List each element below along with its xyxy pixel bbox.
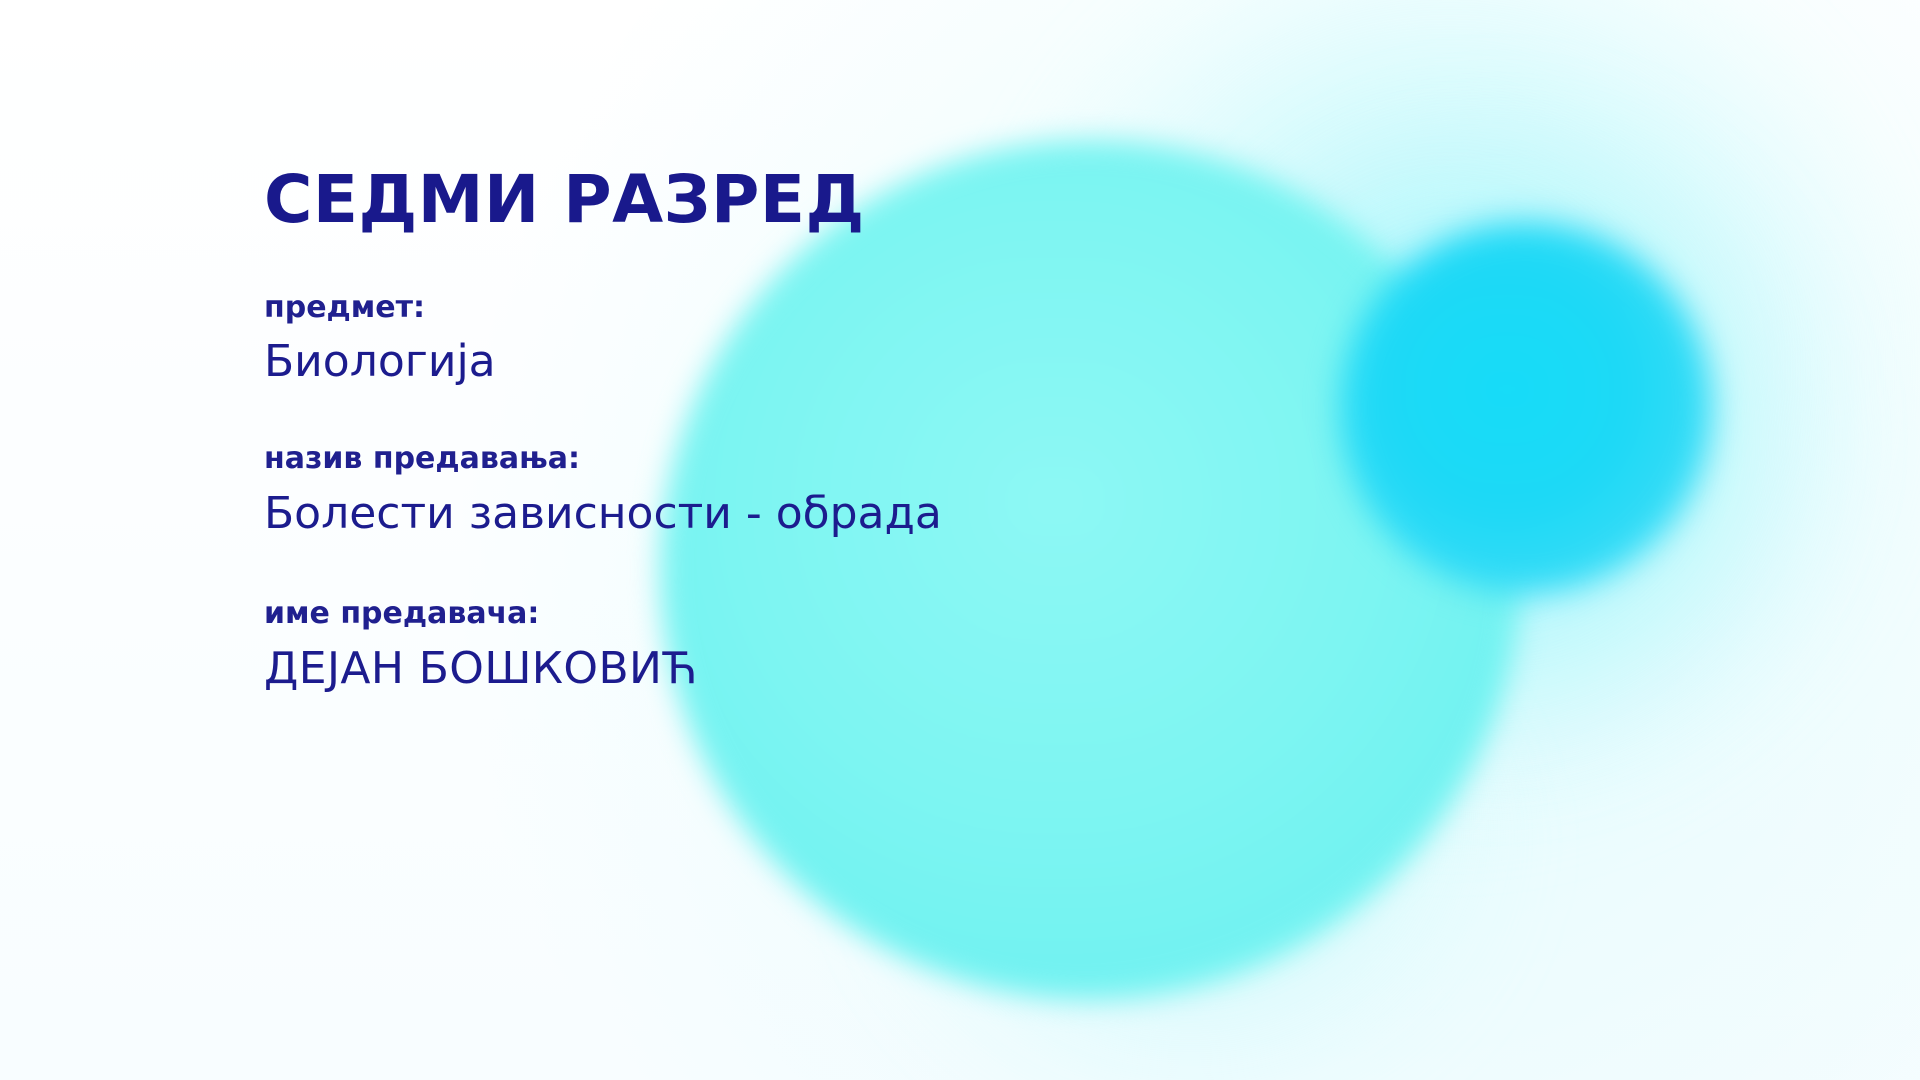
lecture-title-value: Болести зависности - обрада xyxy=(264,488,1264,540)
lecturer-label: име предавача: xyxy=(264,595,1264,633)
field-subject: предмет: Биологија xyxy=(264,289,1264,388)
slide-title: СЕДМИ РАЗРЕД xyxy=(264,166,1264,235)
field-lecture-title: назив предавања: Болести зависности - об… xyxy=(264,440,1264,539)
field-lecturer: име предавача: ДЕЈАН БОШКОВИЋ xyxy=(264,595,1264,694)
small-azure-circle xyxy=(1340,222,1712,594)
cyan-halo-glow-secondary xyxy=(1180,120,1820,760)
lecture-title-label: назив предавања: xyxy=(264,440,1264,478)
subject-label: предмет: xyxy=(264,289,1264,327)
slide-text-block: СЕДМИ РАЗРЕД предмет: Биологија назив пр… xyxy=(264,166,1264,695)
title-slide: СЕДМИ РАЗРЕД предмет: Биологија назив пр… xyxy=(0,0,1920,1080)
lecturer-value: ДЕЈАН БОШКОВИЋ xyxy=(264,643,1264,695)
subject-value: Биологија xyxy=(264,336,1264,388)
